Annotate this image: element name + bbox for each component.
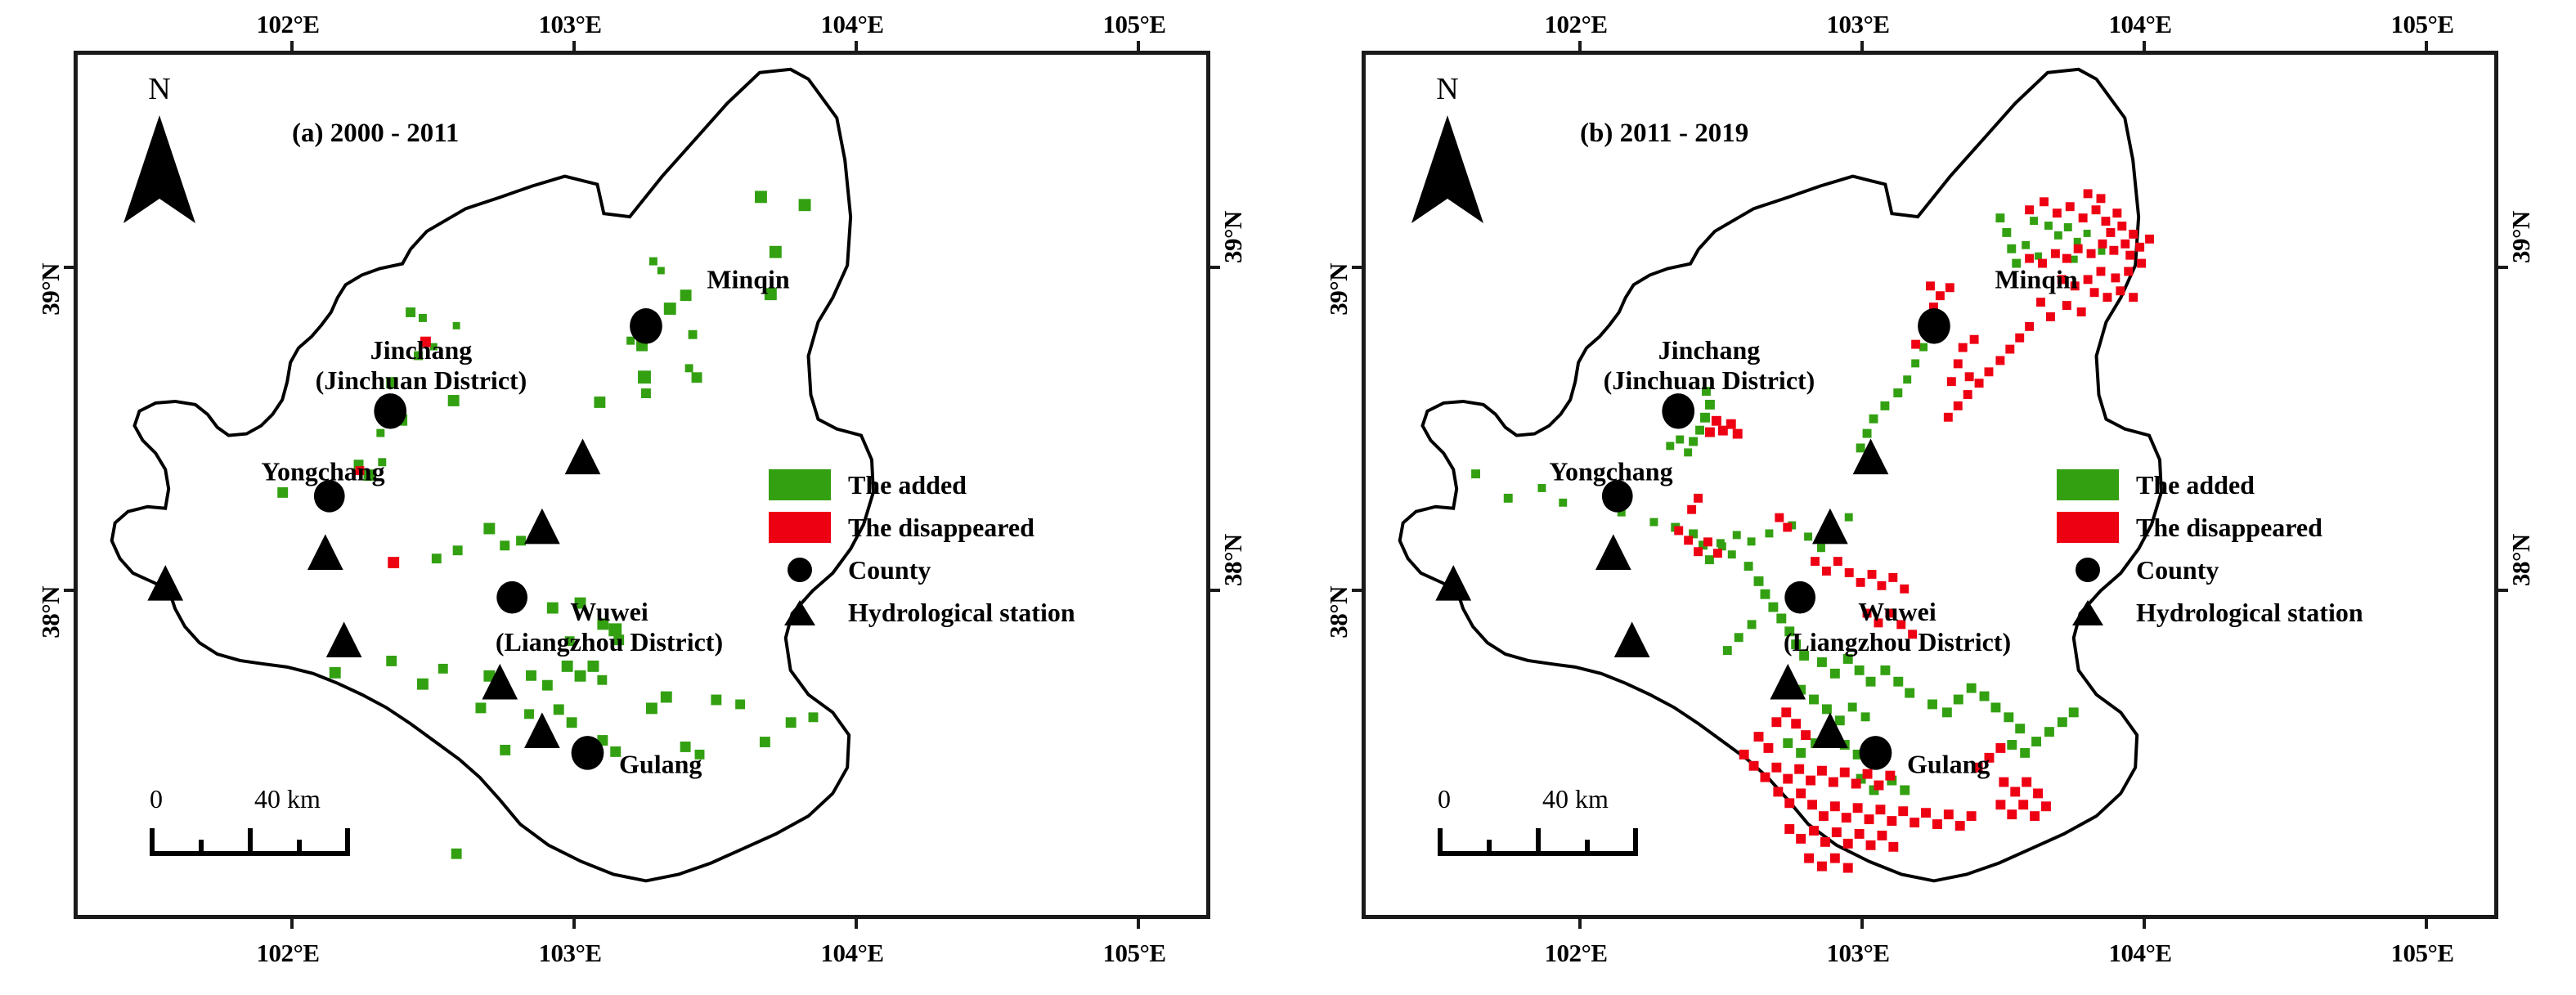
axis-label-right-39n: 39°N [1218, 211, 1248, 263]
legend-label-station: Hydrological station [835, 598, 1075, 628]
north-arrow: N [1398, 73, 1497, 228]
legend-triangle-wrap [2053, 600, 2123, 625]
legend-swatch-disappeared-wrap [765, 512, 835, 543]
place-label-jinchang-line1: Jinchang [316, 335, 527, 365]
axis-label-top-102: 102°E [1544, 10, 1607, 39]
place-label-gulang: Gulang [619, 750, 702, 780]
scale-bar-start-label: 0 [150, 784, 163, 814]
legend-swatch-disappeared-wrap [2053, 512, 2123, 543]
axis-label-right-38n: 38°N [1218, 534, 1248, 586]
tick-b-bottom-103 [1860, 917, 1864, 929]
legend-label-county: County [835, 555, 931, 585]
place-label-jinchang-line2: (Jinchuan District) [316, 365, 527, 396]
legend-label-disappeared: The disappeared [2123, 513, 2322, 543]
legend-circle-icon [2076, 558, 2100, 582]
place-label-yongchang: Yongchang [1549, 457, 1672, 487]
axis-label-bottom-104: 104°E [820, 939, 883, 968]
legend-label-station: Hydrological station [2123, 598, 2363, 628]
axis-label-bottom-103: 103°E [1826, 939, 1889, 968]
legend-item-disappeared: The disappeared [765, 506, 1075, 549]
scale-bar-tick-4 [1633, 828, 1638, 856]
figure-root: N (a) 2000 - 2011 Jinchang (Jinchuan Dis… [0, 0, 2576, 995]
legend-swatch-disappeared-icon [769, 512, 831, 543]
tick-b-bottom-102 [1578, 917, 1582, 929]
legend-circle-icon [788, 558, 812, 582]
place-label-wuwei-line1: Wuwei [1784, 597, 2011, 627]
scale-bar-labels: 0 40 km [1438, 784, 1683, 817]
tick-b-top-105 [2425, 41, 2428, 53]
north-arrow-label: N [1436, 71, 1458, 107]
tick-b-bottom-104 [2143, 917, 2146, 929]
tick-b-left-39 [1352, 266, 1364, 269]
tick-b-top-103 [1860, 41, 1864, 53]
scale-bar-graphic [1438, 828, 1638, 856]
tick-left-39 [64, 266, 76, 269]
tick-b-top-102 [1578, 41, 1582, 53]
legend-item-disappeared: The disappeared [2053, 506, 2363, 549]
axis-label-top-103: 103°E [538, 10, 601, 39]
axis-label-bottom-104: 104°E [2108, 939, 2171, 968]
legend-label-county: County [2123, 555, 2219, 585]
axis-label-top-105: 105°E [1102, 10, 1165, 39]
axis-label-left-39n: 39°N [1324, 263, 1353, 316]
scale-bar-tick-2 [248, 828, 253, 856]
tick-bottom-102 [290, 917, 294, 929]
legend-item-added: The added [765, 464, 1075, 506]
axis-label-right-38n: 38°N [2506, 534, 2536, 586]
tick-right-39 [1208, 266, 1220, 269]
axis-label-bottom-102: 102°E [1544, 939, 1607, 968]
legend-item-county: County [2053, 549, 2363, 591]
axis-label-right-39n: 39°N [2506, 211, 2536, 263]
panel-b-legend: The added The disappeared County [2053, 464, 2363, 634]
axis-label-top-104: 104°E [2108, 10, 2171, 39]
tick-top-102 [290, 41, 294, 53]
scale-bar-tick-2 [1536, 828, 1541, 856]
panel-b-scale-bar: 0 40 km [1438, 784, 1683, 856]
legend-swatch-added-icon [2057, 469, 2119, 500]
place-label-wuwei-line1: Wuwei [496, 597, 723, 627]
tick-bottom-105 [1137, 917, 1140, 929]
legend-label-added: The added [2123, 470, 2255, 500]
tick-b-left-38 [1352, 589, 1364, 592]
tick-b-right-38 [2496, 589, 2508, 592]
place-label-gulang: Gulang [1907, 750, 1990, 780]
tick-top-105 [1137, 41, 1140, 53]
panel-b: N (b) 2011 - 2019 Jinchang (Jinchuan Dis… [1288, 0, 2576, 995]
axis-label-left-38n: 38°N [36, 586, 65, 639]
panel-a-legend: The added The disappeared County [765, 464, 1075, 634]
place-label-wuwei-line2: (Liangzhou District) [1784, 627, 2011, 657]
scale-bar-tick-4 [345, 828, 350, 856]
tick-b-top-104 [2143, 41, 2146, 53]
legend-label-added: The added [835, 470, 967, 500]
north-arrow-label: N [148, 71, 170, 107]
place-label-wuwei: Wuwei (Liangzhou District) [496, 597, 723, 657]
legend-swatch-disappeared-icon [2057, 512, 2119, 543]
axis-label-bottom-105: 105°E [2390, 939, 2453, 968]
scale-bar-end-label: 40 km [254, 784, 321, 814]
north-arrow-icon [1398, 112, 1497, 226]
scale-bar-labels: 0 40 km [150, 784, 395, 817]
legend-triangle-icon [2072, 600, 2103, 625]
scale-bar-tick-1 [199, 840, 204, 856]
place-label-yongchang: Yongchang [261, 457, 384, 487]
place-label-jinchang-line1: Jinchang [1604, 335, 1815, 365]
legend-swatch-added-wrap [2053, 469, 2123, 500]
legend-item-station: Hydrological station [2053, 591, 2363, 634]
scale-bar-start-label: 0 [1438, 784, 1451, 814]
legend-circle-wrap [765, 558, 835, 582]
panel-a-scale-bar: 0 40 km [150, 784, 395, 856]
place-label-wuwei: Wuwei (Liangzhou District) [1784, 597, 2011, 657]
place-label-jinchang-line2: (Jinchuan District) [1604, 365, 1815, 396]
scale-bar-tick-1 [1487, 840, 1492, 856]
legend-item-county: County [765, 549, 1075, 591]
axis-label-top-103: 103°E [1826, 10, 1889, 39]
tick-bottom-104 [855, 917, 858, 929]
axis-label-left-39n: 39°N [36, 263, 65, 316]
axis-label-top-102: 102°E [256, 10, 319, 39]
tick-left-38 [64, 589, 76, 592]
place-label-minqin: Minqin [707, 265, 789, 295]
legend-swatch-added-wrap [765, 469, 835, 500]
place-label-wuwei-line2: (Liangzhou District) [496, 627, 723, 657]
panel-a-plot-frame: N (a) 2000 - 2011 Jinchang (Jinchuan Dis… [74, 51, 1210, 919]
tick-top-103 [572, 41, 576, 53]
tick-b-bottom-105 [2425, 917, 2428, 929]
axis-label-bottom-103: 103°E [538, 939, 601, 968]
tick-top-104 [855, 41, 858, 53]
legend-circle-wrap [2053, 558, 2123, 582]
legend-triangle-icon [784, 600, 815, 625]
scale-bar-tick-3 [1585, 840, 1590, 856]
legend-triangle-wrap [765, 600, 835, 625]
axis-label-bottom-102: 102°E [256, 939, 319, 968]
place-label-minqin: Minqin [1995, 265, 2077, 295]
tick-bottom-103 [572, 917, 576, 929]
axis-label-top-104: 104°E [820, 10, 883, 39]
panel-b-plot-frame: N (b) 2011 - 2019 Jinchang (Jinchuan Dis… [1362, 51, 2498, 919]
scale-bar-tick-0 [150, 828, 155, 856]
place-label-jinchang: Jinchang (Jinchuan District) [1604, 335, 1815, 396]
scale-bar-end-label: 40 km [1542, 784, 1609, 814]
legend-item-station: Hydrological station [765, 591, 1075, 634]
axis-label-left-38n: 38°N [1324, 586, 1353, 639]
scale-bar-tick-3 [297, 840, 302, 856]
north-arrow-icon [110, 112, 209, 226]
legend-label-disappeared: The disappeared [835, 513, 1034, 543]
panel-a-title: (a) 2000 - 2011 [292, 119, 459, 149]
panel-a: N (a) 2000 - 2011 Jinchang (Jinchuan Dis… [0, 0, 1288, 995]
tick-right-38 [1208, 589, 1220, 592]
axis-label-top-105: 105°E [2390, 10, 2453, 39]
axis-label-bottom-105: 105°E [1102, 939, 1165, 968]
place-label-jinchang: Jinchang (Jinchuan District) [316, 335, 527, 396]
legend-swatch-added-icon [769, 469, 831, 500]
scale-bar-tick-0 [1438, 828, 1443, 856]
scale-bar-graphic [150, 828, 350, 856]
panel-b-title: (b) 2011 - 2019 [1580, 119, 1748, 149]
legend-item-added: The added [2053, 464, 2363, 506]
north-arrow: N [110, 73, 209, 228]
tick-b-right-39 [2496, 266, 2508, 269]
